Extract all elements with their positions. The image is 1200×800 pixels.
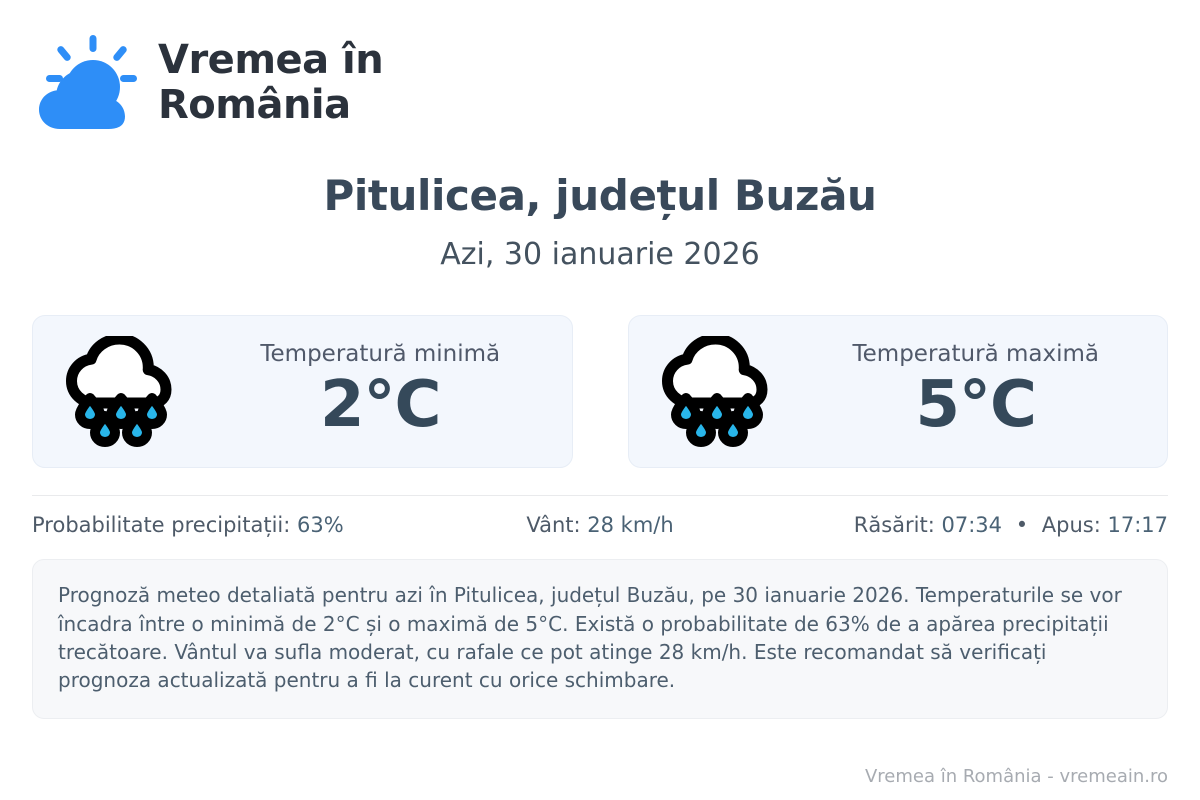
- temperature-cards: Temperatură minimă 2°C Temperatură maxim…: [32, 315, 1168, 468]
- rain-cloud-icon: [61, 336, 185, 448]
- stat-wind: Vânt: 28 km/h: [411, 513, 790, 538]
- stat-sun-times: Răsărit: 07:34 • Apus: 17:17: [789, 513, 1168, 538]
- sunset-value: 17:17: [1107, 513, 1168, 537]
- stat-precipitation: Probabilitate precipitații: 63%: [32, 513, 411, 538]
- wind-value: 28 km/h: [587, 513, 673, 537]
- card-value: 2°C: [320, 370, 441, 442]
- sun-separator: •: [1009, 513, 1035, 537]
- card-value: 5°C: [916, 370, 1037, 442]
- card-temperature-max: Temperatură maximă 5°C: [628, 315, 1169, 468]
- card-label: Temperatură minimă: [260, 341, 500, 369]
- sunset-label: Apus:: [1042, 513, 1101, 537]
- rain-cloud-icon: [657, 336, 781, 448]
- sunrise-label: Răsărit:: [854, 513, 935, 537]
- precipitation-value: 63%: [297, 513, 344, 537]
- wind-label: Vânt:: [526, 513, 580, 537]
- weather-stats: Probabilitate precipitații: 63% Vânt: 28…: [32, 496, 1168, 538]
- brand-name: Vremea în România: [158, 38, 383, 128]
- page-title: Pitulicea, județul Buzău: [32, 118, 1168, 219]
- forecast-description: Prognoză meteo detaliată pentru azi în P…: [32, 559, 1168, 719]
- sunrise-value: 07:34: [941, 513, 1002, 537]
- footer-credit: Vremea în România - vremeain.ro: [865, 766, 1168, 788]
- card-label: Temperatură maximă: [853, 341, 1099, 369]
- precipitation-label: Probabilitate precipitații:: [32, 513, 290, 537]
- weather-page: Vremea în România Pitulicea, județul Buz…: [0, 0, 1200, 800]
- card-temperature-min: Temperatură minimă 2°C: [32, 315, 573, 468]
- card-body: Temperatură minimă 2°C: [207, 341, 554, 442]
- site-brand: Vremea în România: [32, 0, 1168, 118]
- card-body: Temperatură maximă 5°C: [803, 341, 1150, 442]
- sun-cloud-icon: [32, 33, 140, 133]
- page-date: Azi, 30 ianuarie 2026: [32, 219, 1168, 271]
